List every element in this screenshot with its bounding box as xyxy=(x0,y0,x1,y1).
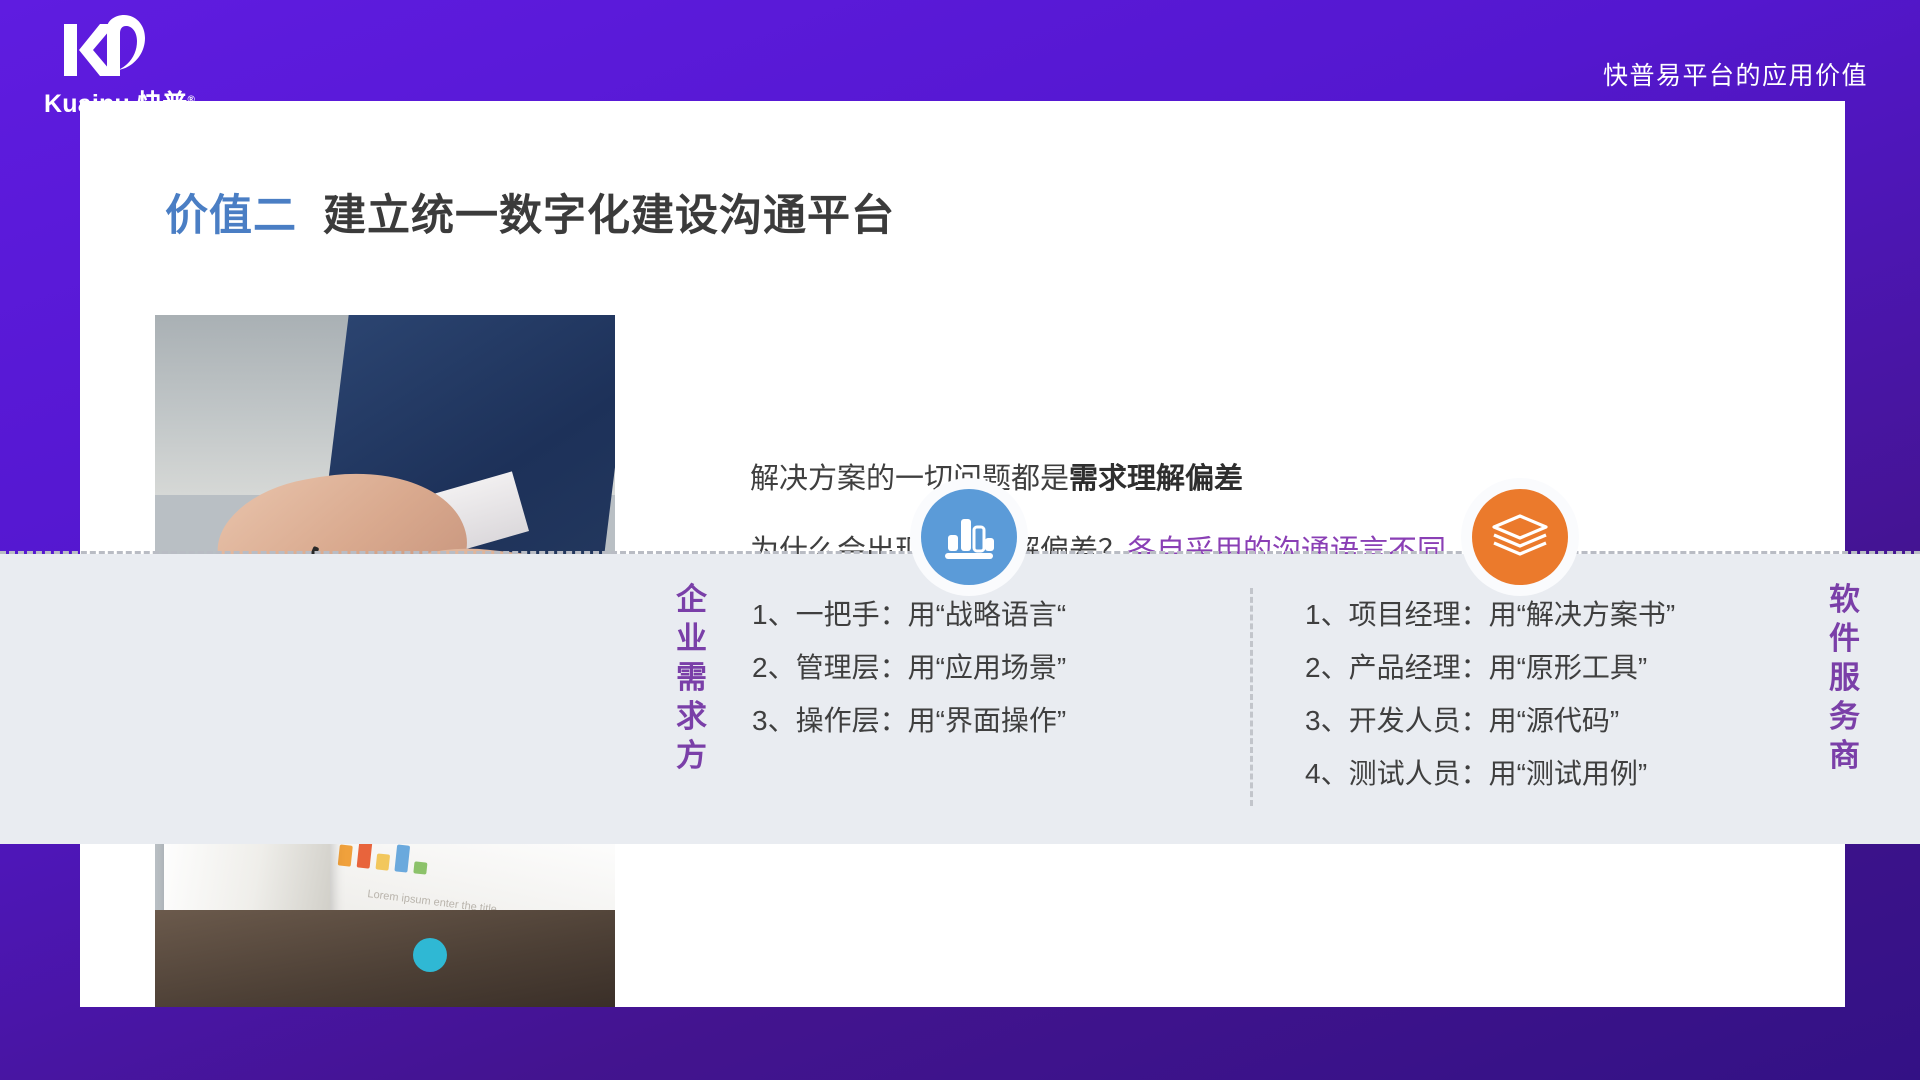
title-kicker: 价值二 xyxy=(165,181,297,243)
list-item: 2、产品经理：用“原形工具” xyxy=(1305,641,1675,694)
list-item: 4、测试人员：用“测试用例” xyxy=(1305,747,1675,800)
items-list-vendor: 1、项目经理：用“解决方案书” 2、产品经理：用“原形工具” 3、开发人员：用“… xyxy=(1305,588,1675,800)
bar-chart-icon xyxy=(921,489,1017,585)
column-dashed-divider xyxy=(1250,588,1253,806)
vertical-label-enterprise: 企 业 需 求 方 xyxy=(672,580,712,775)
items-list-enterprise: 1、一把手：用“战略语言“ 2、管理层：用“应用场景” 3、操作层：用“界面操作… xyxy=(752,588,1066,747)
lead-line-1-plain: 解决方案的一切问题都是 xyxy=(750,463,1069,495)
vertical-label-vendor: 软 件 服 务 商 xyxy=(1825,580,1865,775)
list-item: 1、项目经理：用“解决方案书” xyxy=(1305,588,1675,641)
list-item: 1、一把手：用“战略语言“ xyxy=(752,588,1066,641)
stacked-layers-icon xyxy=(1472,489,1568,585)
list-item: 3、操作层：用“界面操作” xyxy=(752,694,1066,747)
stacked-layers-glyph xyxy=(1492,514,1548,560)
list-item: 3、开发人员：用“源代码” xyxy=(1305,694,1675,747)
header-title: 快普易平台的应用价值 xyxy=(1603,56,1868,92)
page-title: 价值二 建立统一数字化建设沟通平台 xyxy=(165,181,895,243)
brand-logo: Kuaipu 快普® xyxy=(44,14,194,114)
lead-line-1: 解决方案的一切问题都是需求理解偏差 xyxy=(750,443,1750,515)
bar-chart-glyph xyxy=(943,513,995,561)
list-item: 2、管理层：用“应用场景” xyxy=(752,641,1066,694)
photo-blue-badge xyxy=(413,938,447,972)
kuaipu-kp-monogram-icon xyxy=(60,14,160,86)
title-main: 建立统一数字化建设沟通平台 xyxy=(323,181,895,243)
lead-line-1-bold: 需求理解偏差 xyxy=(1069,463,1243,495)
photo-desk-surface xyxy=(155,910,615,1007)
slide-canvas: Kuaipu 快普® 快普易平台的应用价值 价值二 建立统一数字化建设沟通平台 xyxy=(0,0,1920,1080)
